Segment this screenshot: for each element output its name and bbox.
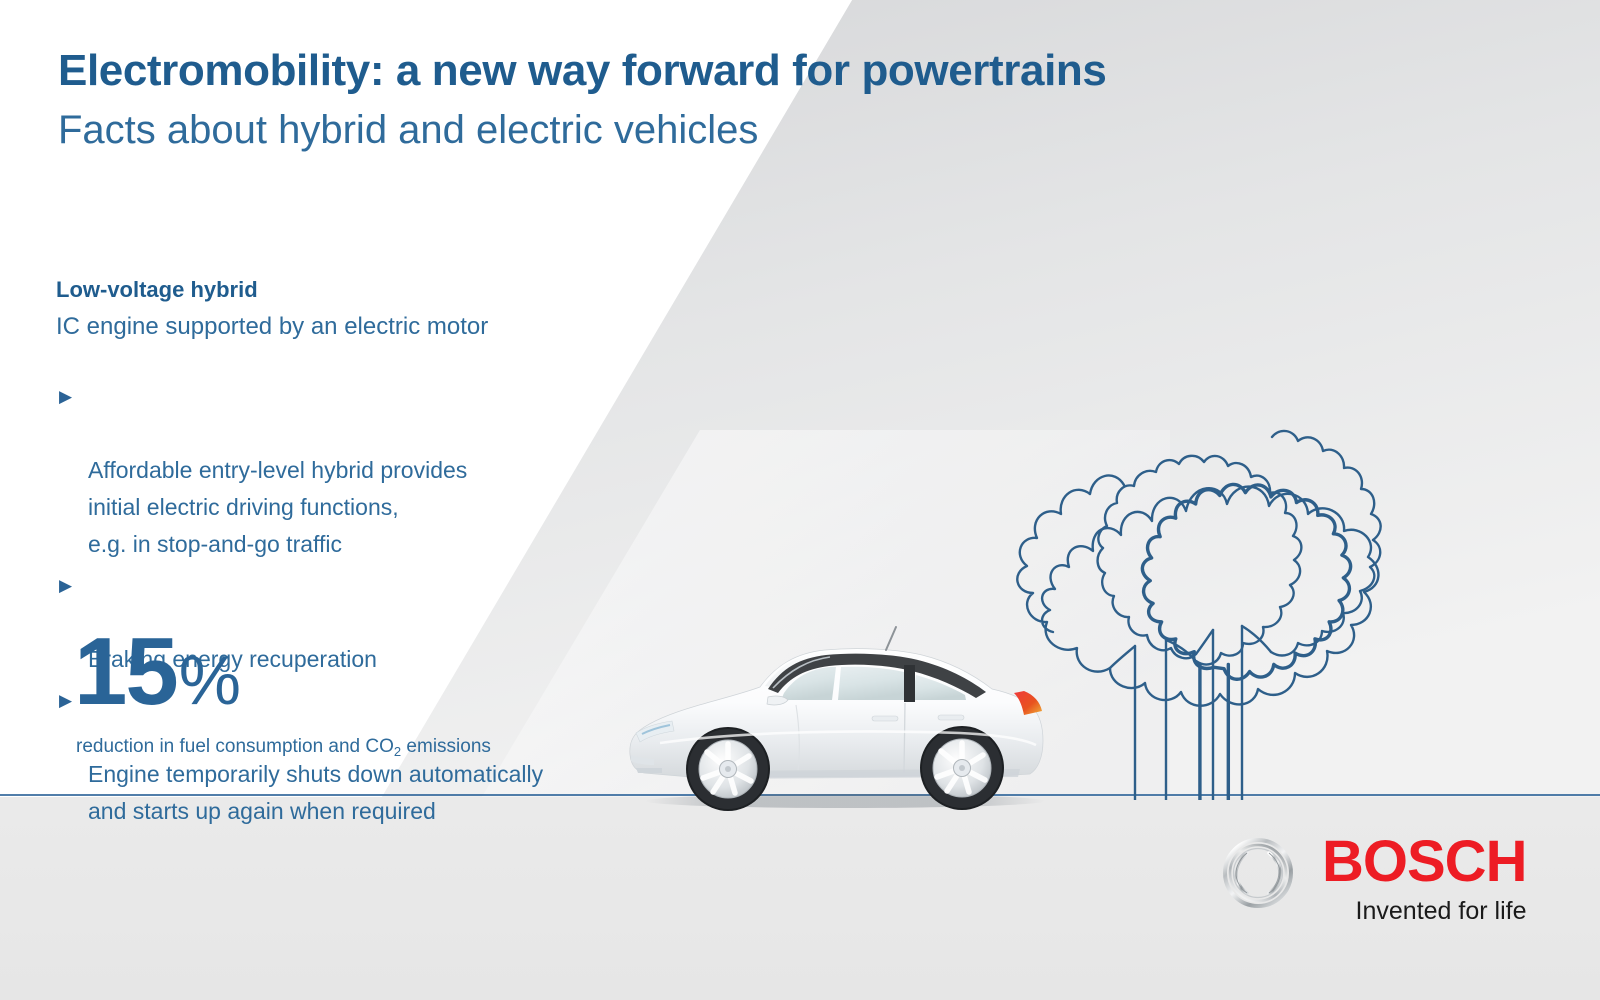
triangle-bullet-icon: ▶ — [59, 378, 72, 415]
list-item-text: Affordable entry-level hybrid provides i… — [88, 457, 467, 557]
statistic-caption-lead: reduction in fuel consumption and CO — [76, 736, 394, 757]
feature-bullet-list: ▶ Affordable entry-level hybrid provides… — [56, 378, 656, 834]
triangle-bullet-icon: ▶ — [59, 682, 72, 719]
triangle-bullet-icon: ▶ — [59, 567, 72, 604]
statistic-figure: 15 % — [74, 620, 491, 732]
page-subtitle: Facts about hybrid and electric vehicles — [58, 108, 758, 153]
list-item-text: Engine temporarily shuts down automatica… — [88, 761, 543, 824]
statistic-value: 15 — [74, 620, 177, 724]
page-title: Electromobility: a new way forward for p… — [58, 46, 1106, 96]
infographic-canvas: Electromobility: a new way forward for p… — [0, 0, 1600, 1000]
section-heading: Low-voltage hybrid — [56, 277, 258, 303]
bosch-wordmark: BOSCH — [1322, 833, 1526, 891]
section-subheading: IC engine supported by an electric motor — [56, 313, 488, 341]
statistic-block: 15 % reduction in fuel consumption and C… — [74, 620, 491, 758]
statistic-caption: reduction in fuel consumption and CO2 em… — [76, 736, 491, 758]
statistic-unit: % — [179, 628, 241, 732]
bosch-logo: BOSCH Invented for life — [1222, 833, 1526, 925]
bosch-tagline: Invented for life — [1356, 898, 1527, 925]
bosch-armature-emblem — [1222, 837, 1294, 909]
white-hatchback-car — [600, 605, 1080, 820]
bosch-text-block: BOSCH Invented for life — [1322, 833, 1526, 925]
statistic-caption-tail: emissions — [401, 736, 491, 757]
co2-subscript: 2 — [394, 744, 401, 759]
list-item: ▶ Affordable entry-level hybrid provides… — [56, 378, 656, 563]
